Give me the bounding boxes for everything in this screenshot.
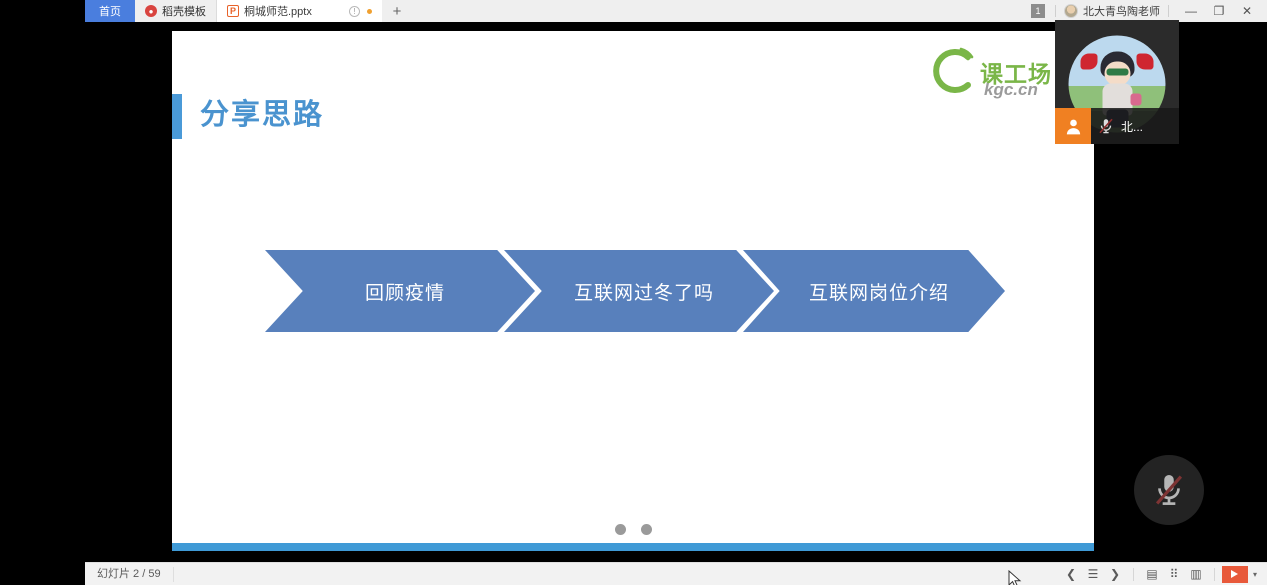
tab-pptx-label: 桐城师范.pptx [244, 3, 312, 19]
tab-home[interactable]: 首页 [85, 0, 135, 22]
person-glyph-icon [1064, 117, 1083, 136]
mic-muted-icon[interactable] [1091, 117, 1121, 135]
docer-icon: ● [145, 5, 157, 17]
slide-bottom-bar [172, 543, 1094, 551]
divider [1055, 5, 1056, 17]
restore-button[interactable]: ❐ [1205, 0, 1233, 22]
slide-list-button[interactable]: ☰ [1082, 563, 1104, 585]
previous-slide-button[interactable]: ❮ [1060, 563, 1082, 585]
slide-sorter-button[interactable]: ⠿ [1163, 563, 1185, 585]
slide-counter-label: 幻灯片 2 / 59 [85, 567, 174, 582]
slide-dot-decorations [172, 524, 1094, 535]
webcam-participant-name: 北... [1121, 118, 1143, 135]
chevron-process-diagram: 回顾疫情 互联网过冬了吗 互联网岗位介绍 [265, 250, 1005, 332]
title-accent-bar [172, 94, 182, 139]
reading-view-button[interactable]: ▥ [1185, 563, 1207, 585]
webcam-overlay[interactable]: 北... [1055, 20, 1179, 144]
slide-dot [615, 524, 626, 535]
tab-bar: 首页 ● 稻壳模板 P 桐城师范.pptx ! + 1 北大青鸟陶老师 [0, 0, 1267, 22]
avatar[interactable] [1064, 4, 1078, 18]
status-bar-controls: ❮ ☰ ❯ ▤ ⠿ ▥ ▾ [1060, 563, 1267, 585]
avatar-glasses [1106, 69, 1128, 76]
unsaved-dot-icon [367, 9, 372, 14]
divider [1214, 568, 1215, 581]
webcam-info-bar: 北... [1055, 108, 1179, 144]
app-window: 首页 ● 稻壳模板 P 桐城师范.pptx ! + 1 北大青鸟陶老师 [0, 0, 1267, 585]
slide-title: 分享思路 [200, 91, 324, 133]
avatar-bag [1131, 94, 1142, 106]
chevron-step-1-label: 回顾疫情 [365, 278, 445, 305]
mic-muted-icon [1150, 471, 1188, 509]
mouse-cursor [1008, 570, 1022, 585]
next-slide-button[interactable]: ❯ [1104, 563, 1126, 585]
person-icon[interactable] [1055, 108, 1091, 144]
chevron-step-3[interactable]: 互联网岗位介绍 [743, 250, 1005, 332]
mic-toggle-button[interactable] [1134, 455, 1204, 525]
tab-pptx[interactable]: P 桐城师范.pptx ! [217, 0, 382, 22]
chevron-step-1[interactable]: 回顾疫情 [265, 250, 535, 332]
divider [1133, 568, 1134, 581]
chevron-step-3-label: 互联网岗位介绍 [809, 278, 949, 305]
start-slideshow-button[interactable] [1222, 566, 1248, 583]
slideshow-options-caret-icon[interactable]: ▾ [1253, 570, 1257, 579]
tab-home-label: 首页 [99, 3, 121, 19]
avatar-bow-left [1081, 54, 1098, 70]
user-name-label[interactable]: 北大青鸟陶老师 [1083, 3, 1160, 19]
logo-domain: kgc.cn [984, 80, 1038, 100]
window-count-badge[interactable]: 1 [1031, 4, 1045, 18]
minimize-button[interactable]: — [1177, 0, 1205, 22]
new-tab-button[interactable]: + [382, 0, 412, 22]
warning-icon[interactable]: ! [349, 6, 360, 17]
chevron-step-2-label: 互联网过冬了吗 [574, 278, 714, 305]
powerpoint-icon: P [227, 5, 239, 17]
chevron-step-2[interactable]: 互联网过冬了吗 [504, 250, 774, 332]
tab-templates-label: 稻壳模板 [162, 3, 206, 19]
close-button[interactable]: ✕ [1233, 0, 1261, 22]
mic-muted-glyph-icon [1097, 117, 1115, 135]
slide-dot [641, 524, 652, 535]
divider [1168, 5, 1169, 17]
tab-pptx-status: ! [349, 6, 372, 17]
avatar-bow-right [1137, 54, 1154, 70]
status-bar: 幻灯片 2 / 59 ❮ ☰ ❯ ▤ ⠿ ▥ ▾ [85, 562, 1267, 585]
normal-view-button[interactable]: ▤ [1141, 563, 1163, 585]
tab-templates[interactable]: ● 稻壳模板 [135, 0, 217, 22]
logo-arc-icon [928, 45, 980, 97]
play-triangle-icon [1231, 570, 1238, 578]
window-controls-area: 1 北大青鸟陶老师 — ❐ ✕ [1031, 0, 1267, 22]
slide-canvas[interactable]: 分享思路 课工场 kgc.cn 回顾疫情 互联网过冬了吗 互联网岗位介绍 [172, 31, 1094, 551]
